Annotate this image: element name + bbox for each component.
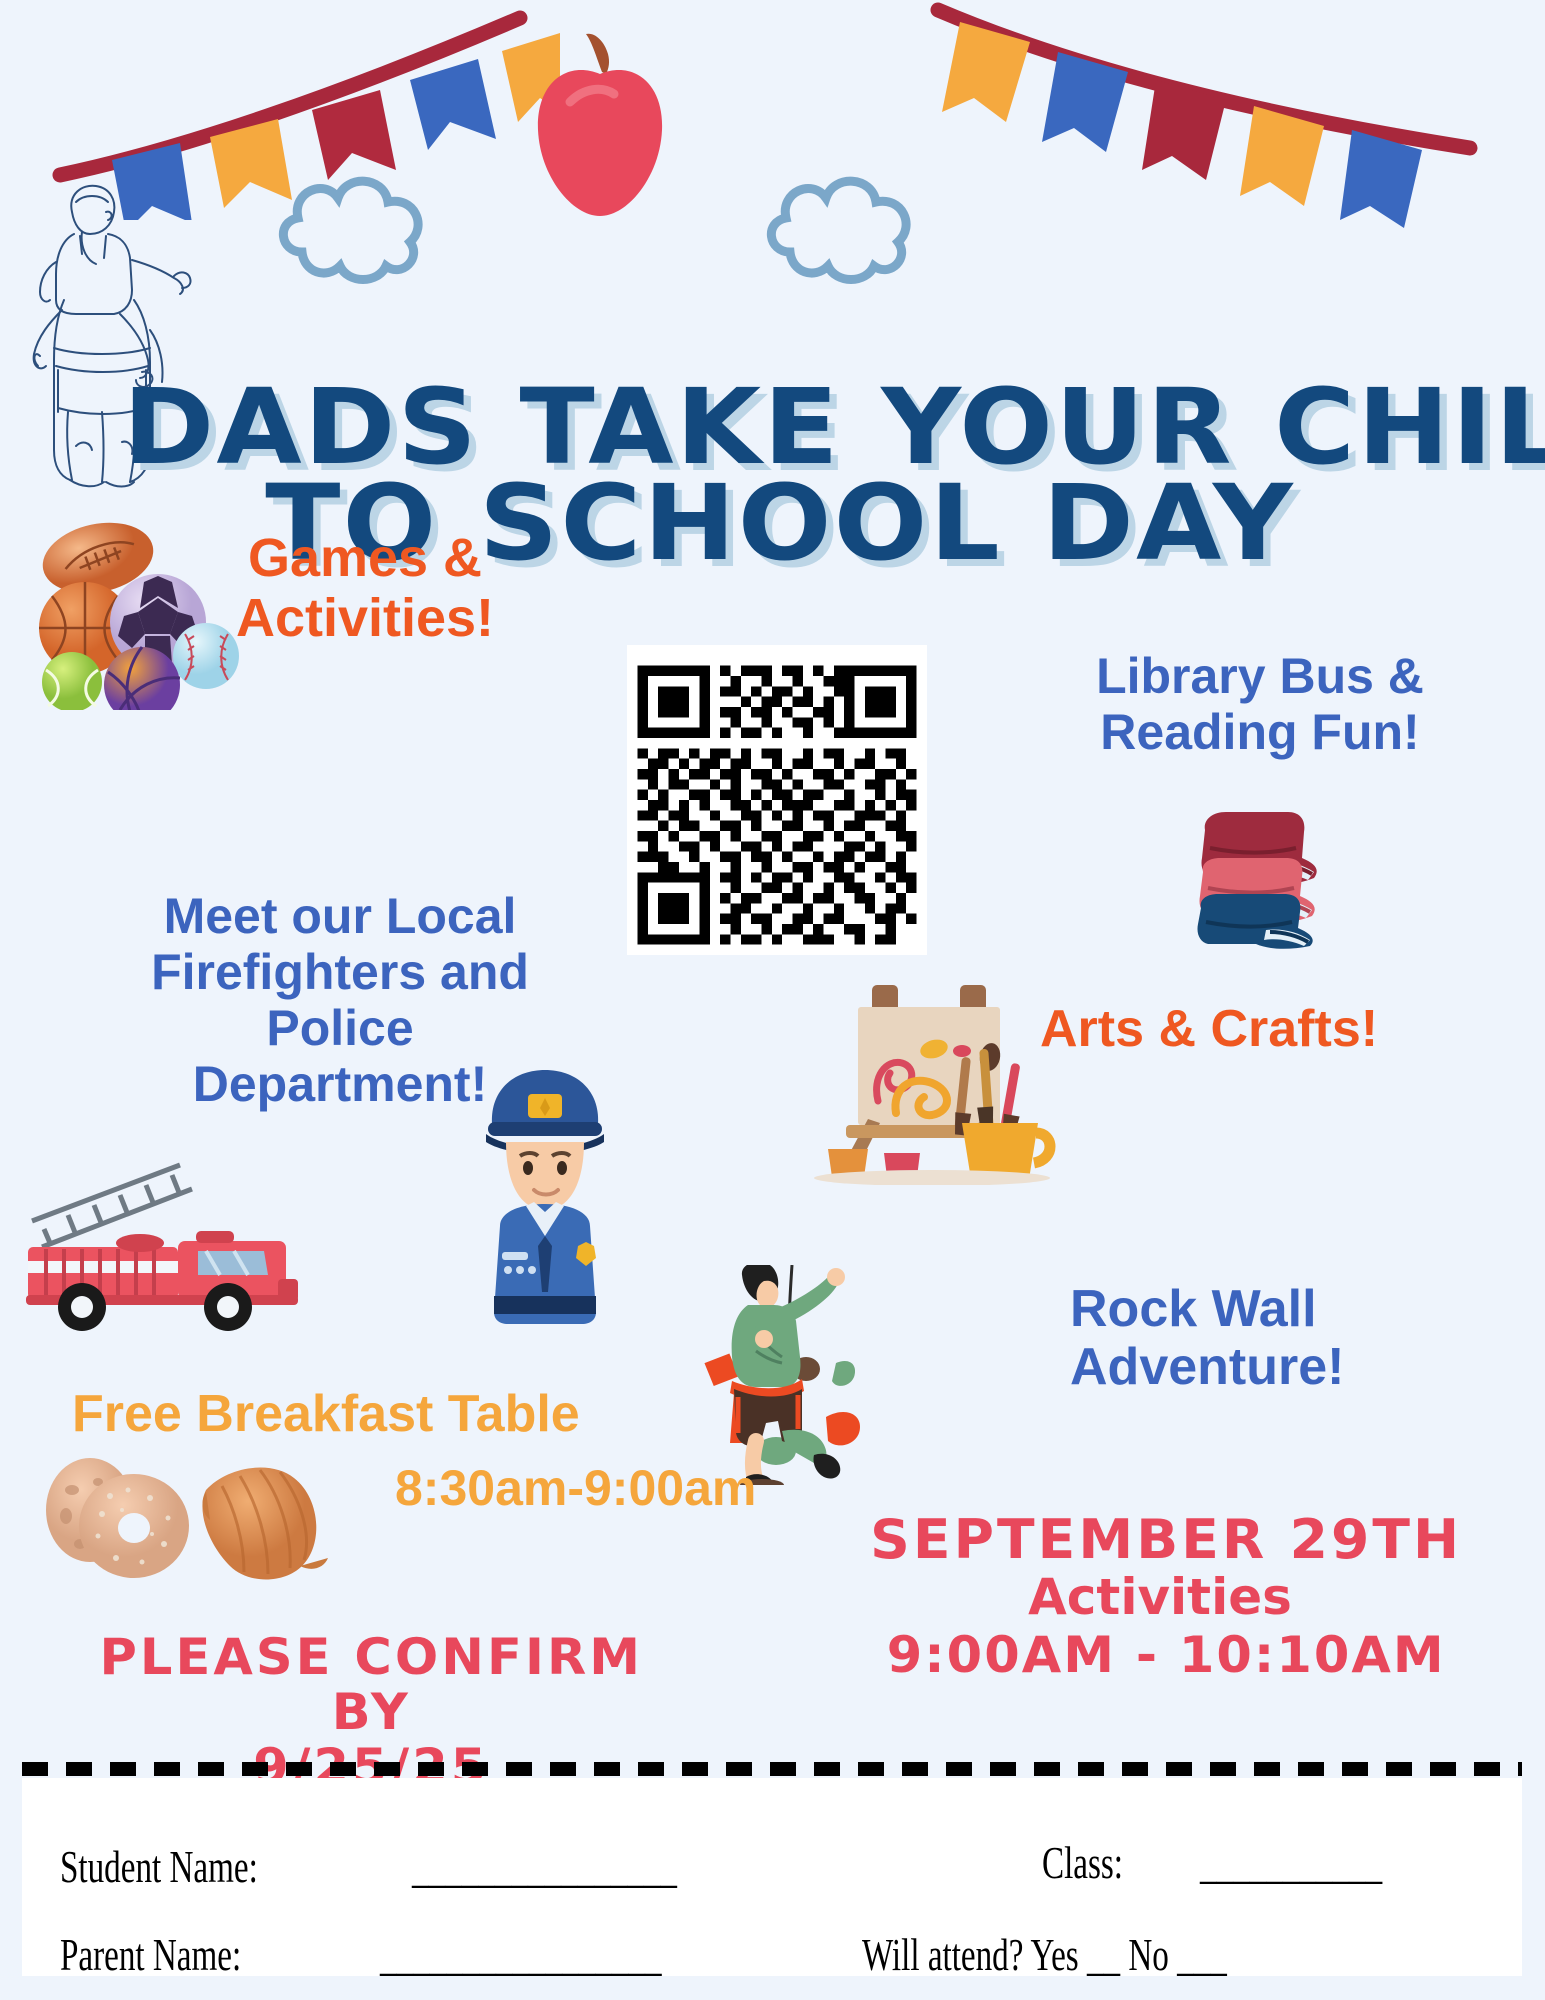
event-time-range: 9:00AM - 10:10AM <box>850 1627 1482 1685</box>
tear-line <box>22 1762 1522 1776</box>
rock-line-1: Rock Wall <box>1070 1280 1490 1338</box>
parent-name-label: Parent Name: <box>60 1928 241 1981</box>
poster-canvas: DADS TAKE YOUR CHILD TO SCHOOL DAY <box>0 0 1545 2000</box>
breakfast-title: Free Breakfast Table <box>72 1385 580 1443</box>
class-blank[interactable]: ___________ <box>1200 1836 1382 1889</box>
library-line-2: Reading Fun! <box>1050 704 1470 760</box>
qr-code[interactable] <box>627 645 927 955</box>
breakfast-label: Free Breakfast Table <box>72 1385 580 1443</box>
apple-illustration <box>530 30 670 230</box>
police-officer-illustration <box>470 1060 620 1330</box>
games-line-2: Activities! <box>200 588 530 648</box>
cloud-doodle-left <box>262 160 462 290</box>
games-activities-text: Games & Activities! <box>200 528 530 649</box>
fire-truck-illustration <box>20 1155 310 1335</box>
library-bus-text: Library Bus & Reading Fun! <box>1050 648 1470 760</box>
class-label: Class: <box>1042 1836 1123 1889</box>
responders-line-1: Meet our Local <box>140 888 540 944</box>
art-easel-illustration <box>810 985 1060 1185</box>
arts-label: Arts & Crafts! <box>1040 1000 1378 1058</box>
bagels-and-croissant-illustration <box>28 1448 338 1588</box>
rock-climber-illustration <box>690 1265 870 1485</box>
stack-of-books-illustration <box>1170 800 1330 950</box>
rock-wall-text: Rock Wall Adventure! <box>1070 1280 1490 1396</box>
event-date: SEPTEMBER 29TH <box>850 1510 1482 1569</box>
cloud-doodle-right <box>750 160 950 290</box>
attend-question[interactable]: Will attend? Yes __ No ___ <box>862 1928 1227 1981</box>
games-line-1: Games & <box>200 528 530 588</box>
responders-line-2: Firefighters and <box>140 944 540 1000</box>
student-name-label: Student Name: <box>60 1840 258 1893</box>
rock-line-2: Adventure! <box>1070 1338 1490 1396</box>
breakfast-time: 8:30am-9:00am <box>395 1460 756 1516</box>
student-name-blank[interactable]: ________________ <box>412 1840 677 1893</box>
responders-line-3: Police <box>140 1000 540 1056</box>
library-line-1: Library Bus & <box>1050 648 1470 704</box>
confirm-line-1: PLEASE CONFIRM BY <box>50 1630 693 1740</box>
event-activities-label: Activities <box>850 1569 1470 1627</box>
bunting-flags-right <box>930 0 1490 230</box>
event-date-block: SEPTEMBER 29TH Activities 9:00AM - 10:10… <box>850 1510 1470 1684</box>
arts-crafts-text: Arts & Crafts! <box>1040 1000 1480 1058</box>
rsvp-form: Student Name: ________________ Class: __… <box>22 1778 1522 1976</box>
breakfast-time-label: 8:30am-9:00am <box>395 1460 756 1516</box>
parent-name-blank[interactable]: _________________ <box>380 1928 662 1981</box>
